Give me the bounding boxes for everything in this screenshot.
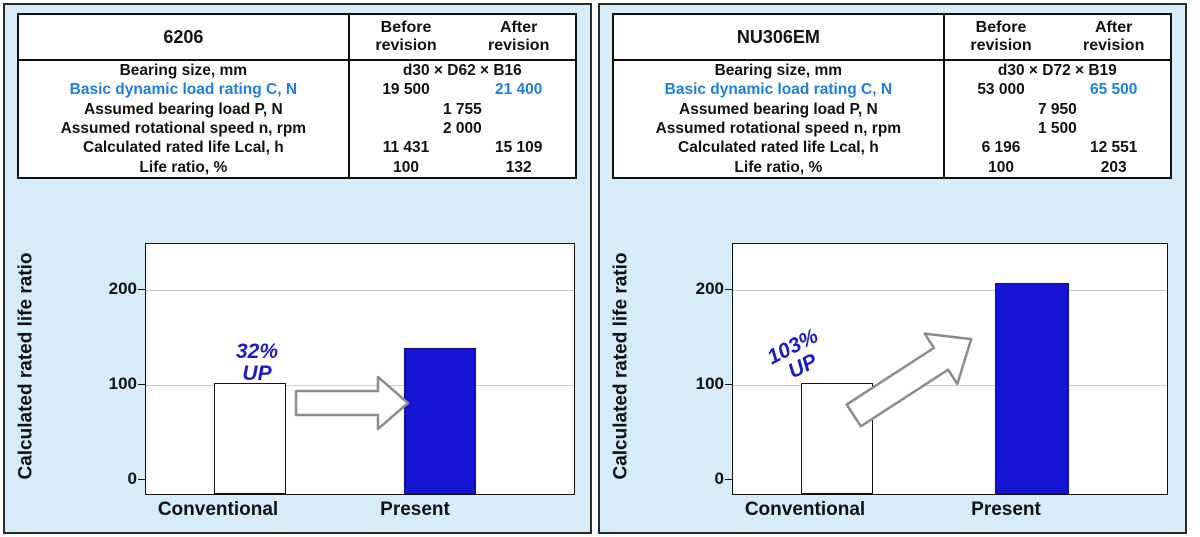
y-tickmark — [725, 289, 732, 290]
row-value-before: 11 431 — [349, 138, 463, 157]
bearing-title: 6206 — [19, 15, 349, 60]
row-value-after: 15 109 — [462, 138, 575, 157]
row-value-after: 132 — [462, 158, 575, 177]
gridline-100 — [146, 385, 574, 386]
row-value-span: d30 × D72 × B19 — [944, 60, 1170, 80]
row-value-span: 1 755 — [349, 100, 575, 119]
row-value-span: 2 000 — [349, 119, 575, 138]
y-tick-100: 100 — [77, 374, 137, 394]
table-header-row: 6206 Before revision After revision — [19, 15, 575, 60]
x-category-conventional: Conventional — [710, 499, 900, 521]
row-value-span: 7 950 — [944, 100, 1170, 119]
x-category-conventional: Conventional — [123, 499, 313, 521]
row-label: Life ratio, % — [614, 158, 944, 177]
bar-conventional — [214, 383, 286, 494]
gridline-200 — [146, 290, 574, 291]
table-row: Calculated rated life Lcal, h 6 196 12 5… — [614, 138, 1170, 157]
row-label: Calculated rated life Lcal, h — [19, 138, 349, 157]
chart-nu306em: Calculated rated life ratio 200 100 0 — [600, 237, 1189, 533]
table-row: Bearing size, mm d30 × D62 × B16 — [19, 60, 575, 80]
row-label: Calculated rated life Lcal, h — [614, 138, 944, 157]
col-header-before: Before revision — [944, 15, 1058, 60]
bearing-title: NU306EM — [614, 15, 944, 60]
table-row: Assumed rotational speed n, rpm 2 000 — [19, 119, 575, 138]
table-row: Assumed rotational speed n, rpm 1 500 — [614, 119, 1170, 138]
row-label: Basic dynamic load rating C, N — [614, 80, 944, 99]
table-row: Calculated rated life Lcal, h 11 431 15 … — [19, 138, 575, 157]
gridline-100 — [733, 385, 1167, 386]
table-header-row: NU306EM Before revision After revision — [614, 15, 1170, 60]
panel-6206: 6206 Before revision After revision Bear… — [3, 3, 592, 534]
spec-table-6206: 6206 Before revision After revision Bear… — [17, 13, 577, 179]
row-label: Basic dynamic load rating C, N — [19, 80, 349, 99]
y-tick-200: 200 — [77, 279, 137, 299]
table-row: Basic dynamic load rating C, N 19 500 21… — [19, 80, 575, 99]
table-row: Bearing size, mm d30 × D72 × B19 — [614, 60, 1170, 80]
row-value-span: d30 × D62 × B16 — [349, 60, 575, 80]
y-axis-label: Calculated rated life ratio — [604, 237, 638, 495]
row-value-span: 1 500 — [944, 119, 1170, 138]
row-value-before: 19 500 — [349, 80, 463, 99]
x-category-present: Present — [926, 499, 1086, 521]
row-value-before: 53 000 — [944, 80, 1058, 99]
y-tickmark — [725, 479, 732, 480]
up-arrow-icon — [146, 244, 576, 496]
y-tickmark — [725, 384, 732, 385]
plot-area — [145, 243, 575, 495]
col-header-before: Before revision — [349, 15, 463, 60]
row-value-after: 65 500 — [1057, 80, 1170, 99]
table-row: Life ratio, % 100 203 — [614, 158, 1170, 177]
y-tick-100: 100 — [664, 374, 724, 394]
annotation-up-6206: 32% UP — [217, 341, 297, 385]
row-label: Assumed bearing load P, N — [19, 100, 349, 119]
y-tick-200: 200 — [664, 279, 724, 299]
y-axis-label: Calculated rated life ratio — [9, 237, 43, 495]
row-value-before: 100 — [349, 158, 463, 177]
y-tickmark — [138, 479, 145, 480]
col-header-after: After revision — [462, 15, 575, 60]
table-row: Assumed bearing load P, N 7 950 — [614, 100, 1170, 119]
bar-present — [404, 348, 476, 494]
table-row: Assumed bearing load P, N 1 755 — [19, 100, 575, 119]
row-label: Bearing size, mm — [614, 60, 944, 80]
table-row: Life ratio, % 100 132 — [19, 158, 575, 177]
row-value-after: 203 — [1057, 158, 1170, 177]
spec-table-nu306em: NU306EM Before revision After revision B… — [612, 13, 1172, 179]
row-label: Assumed bearing load P, N — [614, 100, 944, 119]
bar-present — [995, 283, 1069, 494]
gridline-200 — [733, 290, 1167, 291]
row-value-after: 21 400 — [462, 80, 575, 99]
col-header-after: After revision — [1057, 15, 1170, 60]
row-value-before: 100 — [944, 158, 1058, 177]
y-tickmark — [138, 384, 145, 385]
row-value-after: 12 551 — [1057, 138, 1170, 157]
row-label: Bearing size, mm — [19, 60, 349, 80]
figure-root: 6206 Before revision After revision Bear… — [0, 0, 1200, 537]
row-label: Assumed rotational speed n, rpm — [19, 119, 349, 138]
bar-conventional — [801, 383, 873, 494]
y-tickmark — [138, 289, 145, 290]
x-category-present: Present — [335, 499, 495, 521]
row-value-before: 6 196 — [944, 138, 1058, 157]
y-tick-0: 0 — [664, 469, 724, 489]
panel-nu306em: NU306EM Before revision After revision B… — [598, 3, 1187, 534]
chart-6206: Calculated rated life ratio 200 100 0 32… — [5, 237, 594, 533]
table-row: Basic dynamic load rating C, N 53 000 65… — [614, 80, 1170, 99]
row-label: Life ratio, % — [19, 158, 349, 177]
row-label: Assumed rotational speed n, rpm — [614, 119, 944, 138]
y-tick-0: 0 — [77, 469, 137, 489]
